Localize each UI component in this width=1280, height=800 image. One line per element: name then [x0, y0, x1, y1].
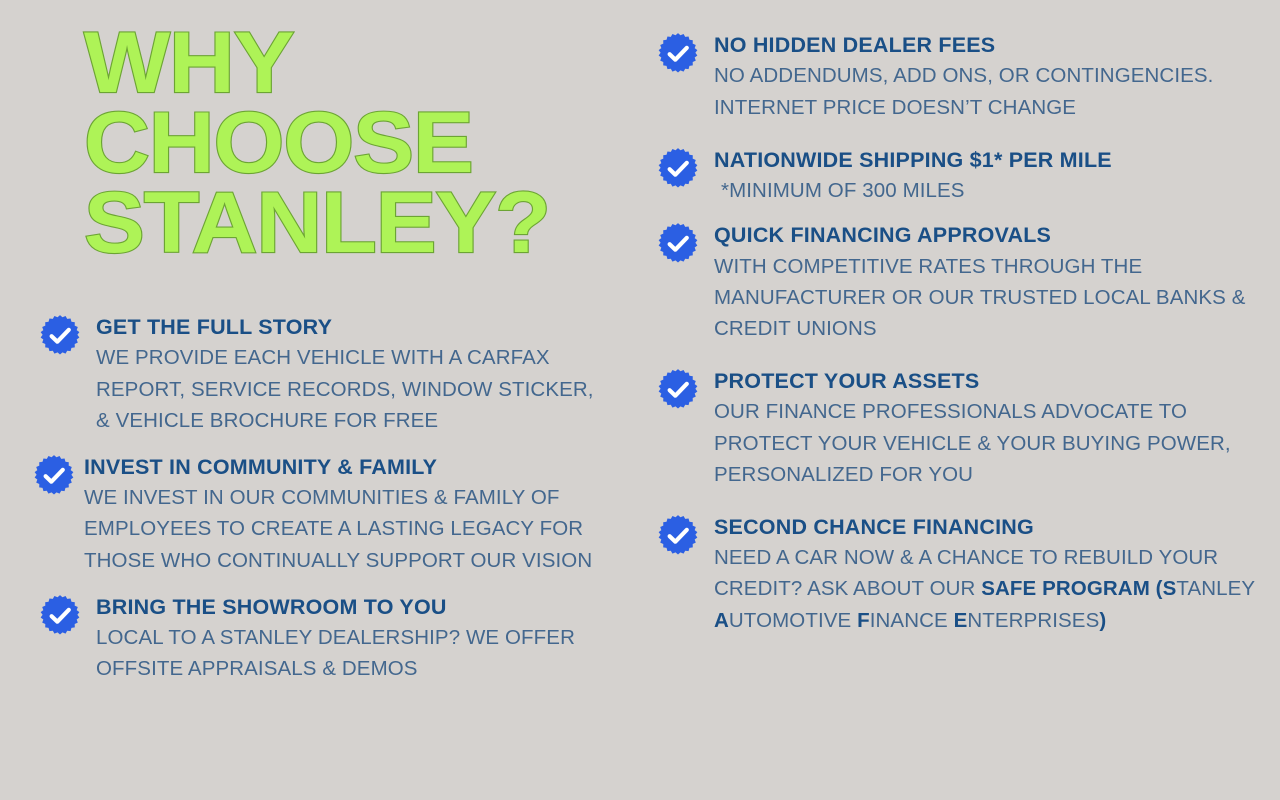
benefit-heading: PROTECT YOUR ASSETS	[714, 367, 1256, 395]
verified-check-badge-icon	[38, 594, 82, 638]
safe-acronym-close-paren: )	[1099, 609, 1106, 632]
page-title: WHY CHOOSE STANLEY?	[84, 24, 624, 264]
benefit-description: *MINIMUM OF 300 MILES	[714, 175, 1256, 206]
benefit-text: SECOND CHANCE FINANCING NEED A CAR NOW &…	[714, 512, 1256, 636]
benefit-heading: NATIONWIDE SHIPPING $1* PER MILE	[714, 146, 1256, 174]
benefit-heading: QUICK FINANCING APPROVALS	[714, 221, 1256, 249]
benefits-column-left: GET THE FULL STORY WE PROVIDE EACH VEHIC…	[30, 312, 610, 700]
safe-acronym-f: F	[857, 609, 870, 632]
benefit-item: NO HIDDEN DEALER FEES NO ADDENDUMS, ADD …	[656, 30, 1256, 123]
page-title-line-1: WHY	[84, 24, 656, 104]
verified-check-badge-icon	[656, 368, 700, 412]
safe-program-label: SAFE PROGRAM (S	[981, 577, 1176, 600]
benefit-description: OUR FINANCE PROFESSIONALS ADVOCATE TO PR…	[714, 396, 1256, 489]
benefit-description: WITH COMPETITIVE RATES THROUGH THE MANUF…	[714, 251, 1256, 344]
safe-acronym-enterprises: NTERPRISES	[967, 609, 1099, 632]
benefit-text: NATIONWIDE SHIPPING $1* PER MILE *MINIMU…	[714, 145, 1256, 207]
safe-acronym-automotive: UTOMOTIVE	[729, 609, 857, 632]
benefit-text: GET THE FULL STORY WE PROVIDE EACH VEHIC…	[96, 312, 610, 436]
verified-check-badge-icon	[38, 314, 82, 358]
benefits-column-right: NO HIDDEN DEALER FEES NO ADDENDUMS, ADD …	[656, 30, 1256, 658]
safe-acronym-stanley: TANLEY	[1176, 577, 1254, 600]
benefit-item: QUICK FINANCING APPROVALS WITH COMPETITI…	[656, 220, 1256, 344]
verified-check-badge-icon	[32, 454, 76, 498]
benefit-text: PROTECT YOUR ASSETS OUR FINANCE PROFESSI…	[714, 366, 1256, 490]
verified-check-badge-icon	[656, 222, 700, 266]
benefit-item: GET THE FULL STORY WE PROVIDE EACH VEHIC…	[38, 312, 610, 436]
benefit-description: WE PROVIDE EACH VEHICLE WITH A CARFAX RE…	[96, 342, 610, 435]
verified-check-badge-icon	[656, 514, 700, 558]
benefit-item: NATIONWIDE SHIPPING $1* PER MILE *MINIMU…	[656, 145, 1256, 207]
benefit-description: NEED A CAR NOW & A CHANCE TO REBUILD YOU…	[714, 542, 1256, 635]
benefit-heading: GET THE FULL STORY	[96, 313, 610, 341]
benefit-heading: SECOND CHANCE FINANCING	[714, 513, 1256, 541]
benefit-description-text: *MINIMUM OF 300 MILES	[714, 175, 965, 206]
page-title-line-3: STANLEY?	[84, 184, 656, 264]
benefit-item: INVEST IN COMMUNITY & FAMILY WE INVEST I…	[32, 452, 610, 576]
page-title-line-2: CHOOSE	[84, 104, 656, 184]
benefit-text: NO HIDDEN DEALER FEES NO ADDENDUMS, ADD …	[714, 30, 1256, 123]
safe-acronym-a: A	[714, 609, 729, 632]
benefit-item: BRING THE SHOWROOM TO YOU LOCAL TO A STA…	[38, 592, 610, 685]
benefit-text: BRING THE SHOWROOM TO YOU LOCAL TO A STA…	[96, 592, 610, 685]
verified-check-badge-icon	[656, 32, 700, 76]
benefit-heading: INVEST IN COMMUNITY & FAMILY	[84, 453, 610, 481]
benefit-text: INVEST IN COMMUNITY & FAMILY WE INVEST I…	[84, 452, 610, 576]
benefit-heading: BRING THE SHOWROOM TO YOU	[96, 593, 610, 621]
benefit-heading: NO HIDDEN DEALER FEES	[714, 31, 1256, 59]
benefit-description: WE INVEST IN OUR COMMUNITIES & FAMILY OF…	[84, 482, 610, 575]
benefit-item: SECOND CHANCE FINANCING NEED A CAR NOW &…	[656, 512, 1256, 636]
verified-check-badge-icon	[656, 147, 700, 191]
benefit-description: LOCAL TO A STANLEY DEALERSHIP? WE OFFER …	[96, 622, 610, 684]
safe-acronym-e: E	[954, 609, 968, 632]
benefit-item: PROTECT YOUR ASSETS OUR FINANCE PROFESSI…	[656, 366, 1256, 490]
infographic-page: WHY CHOOSE STANLEY? GET THE FULL STORY W…	[0, 0, 1280, 800]
safe-acronym-finance: INANCE	[870, 609, 954, 632]
benefit-description: NO ADDENDUMS, ADD ONS, OR CONTINGENCIES.…	[714, 60, 1256, 122]
benefit-text: QUICK FINANCING APPROVALS WITH COMPETITI…	[714, 220, 1256, 344]
